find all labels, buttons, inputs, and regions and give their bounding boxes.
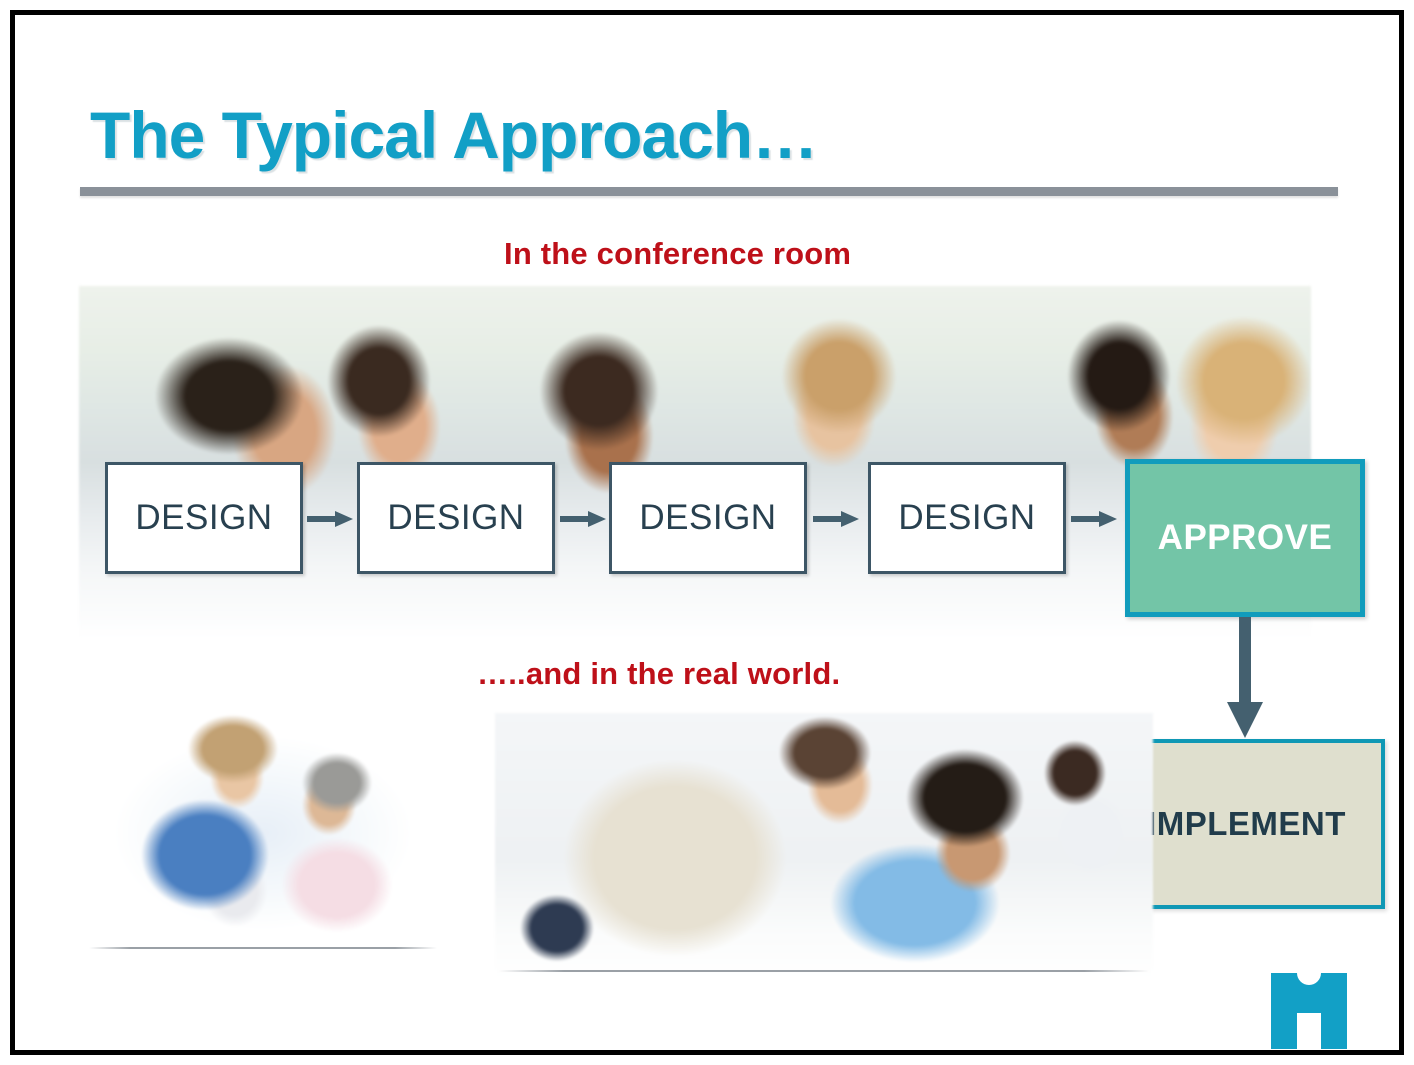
- arrow-shaft: [1239, 617, 1251, 705]
- arrow-head: [1227, 702, 1263, 738]
- arrow-right-icon: [560, 511, 606, 527]
- classroom-photo: [495, 713, 1153, 978]
- arrow-head: [335, 511, 353, 527]
- flow-box-design-2-label: DESIGN: [387, 498, 524, 538]
- arrow-shaft: [1071, 516, 1101, 522]
- company-h-logo-icon: [1271, 973, 1347, 1049]
- arrow-shaft: [307, 516, 337, 522]
- title-divider: [80, 187, 1338, 196]
- arrow-right-icon: [813, 511, 859, 527]
- caption-real-world: …..and in the real world.: [477, 656, 840, 692]
- arrow-right-icon: [307, 511, 353, 527]
- nurse-patient-photo: [85, 705, 441, 955]
- flow-box-approve[interactable]: APPROVE: [1125, 459, 1365, 617]
- flow-box-design-4[interactable]: DESIGN: [868, 462, 1066, 574]
- flow-box-design-1[interactable]: DESIGN: [105, 462, 303, 574]
- caption-conference-room: In the conference room: [504, 236, 851, 272]
- slide-frame: The Typical Approach… In the conference …: [10, 10, 1404, 1055]
- page-title: The Typical Approach…: [90, 97, 817, 173]
- flow-box-implement-label: IMPLEMENT: [1147, 805, 1346, 843]
- flow-box-design-4-label: DESIGN: [898, 498, 1035, 538]
- arrow-head: [1099, 511, 1117, 527]
- flow-box-design-2[interactable]: DESIGN: [357, 462, 555, 574]
- arrow-shaft: [560, 516, 590, 522]
- arrow-head: [841, 511, 859, 527]
- flow-box-design-1-label: DESIGN: [135, 498, 272, 538]
- flow-box-design-3[interactable]: DESIGN: [609, 462, 807, 574]
- classroom-photo-baseline: [499, 970, 1149, 972]
- flow-box-design-3-label: DESIGN: [639, 498, 776, 538]
- arrow-right-icon: [1071, 511, 1117, 527]
- arrow-head: [588, 511, 606, 527]
- arrow-down-icon: [1227, 617, 1263, 738]
- arrow-shaft: [813, 516, 843, 522]
- flow-box-approve-label: APPROVE: [1158, 518, 1333, 558]
- nurse-photo-baseline: [89, 947, 437, 949]
